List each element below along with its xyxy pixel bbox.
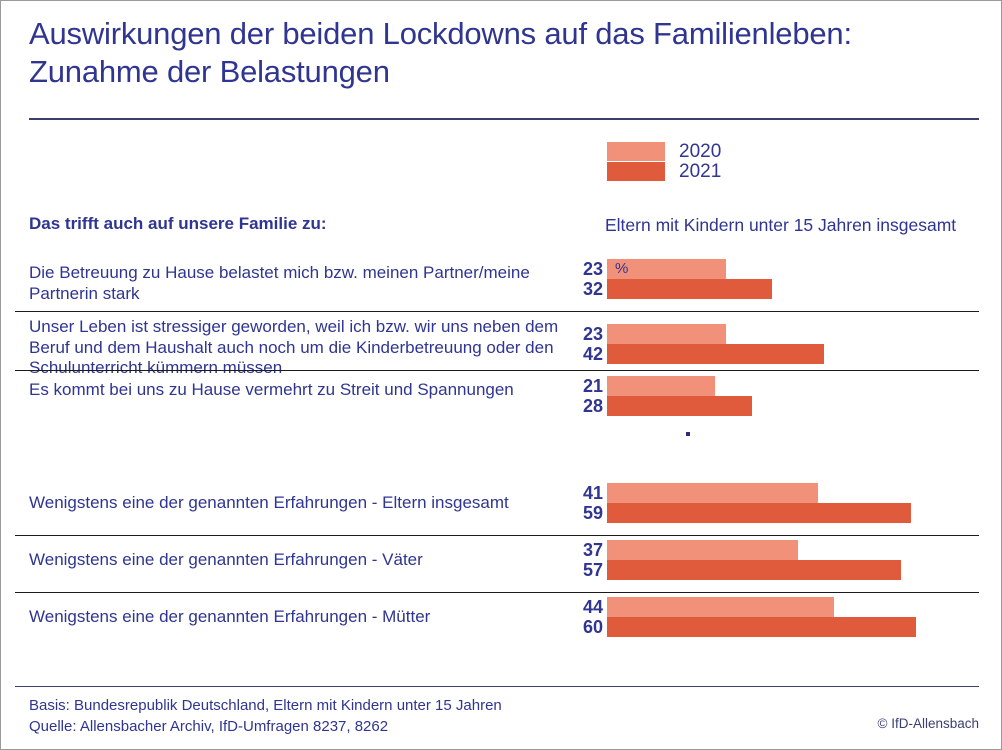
bar-2020 [607,540,798,560]
bar-value-2021: 28 [547,396,603,416]
bar-2021 [607,344,824,364]
bar-2020 [607,597,834,617]
row-label: Es kommt bei uns zu Hause vermehrt zu St… [29,380,569,401]
bar-value-2021: 57 [547,560,603,580]
column-header: Eltern mit Kindern unter 15 Jahren insge… [605,214,985,236]
footer-text: Basis: Bundesrepublik Deutschland, Elter… [29,695,502,737]
title-divider [29,118,979,120]
legend-item-2020: 2020 [607,141,721,161]
bar-2020 [607,376,715,396]
bar-2020 [607,483,818,503]
section-heading: Das trifft auch auf unsere Familie zu: [29,214,327,234]
row-separator [15,535,979,536]
row-separator [15,311,979,312]
bar-value-2020: 41 [547,483,603,503]
legend-label-2021: 2021 [679,162,721,181]
row-separator [15,370,979,371]
row-label: Wenigstens eine der genannten Erfahrunge… [29,493,589,514]
bar-value-2020: 23 [547,259,603,279]
chart-frame: Auswirkungen der beiden Lockdowns auf da… [0,0,1002,750]
legend-label-2020: 2020 [679,142,721,161]
bar-2021 [607,617,916,637]
footer-source: Quelle: Allensbacher Archiv, IfD-Umfrage… [29,716,502,737]
legend-swatch-2020 [607,142,665,161]
legend-swatch-2021 [607,162,665,181]
bar-value-2021: 59 [547,503,603,523]
percent-label: % [615,260,628,278]
decorative-dot [686,432,690,436]
bar-value-2020: 44 [547,597,603,617]
legend: 2020 2021 [607,141,721,181]
bar-2020 [607,324,726,344]
row-separator [15,592,979,593]
legend-item-2021: 2021 [607,161,721,181]
bar-value-2020: 37 [547,540,603,560]
bar-value-2020: 23 [547,324,603,344]
bar-2021 [607,396,752,416]
bar-2021 [607,560,901,580]
row-label: Wenigstens eine der genannten Erfahrunge… [29,607,589,628]
row-label: Wenigstens eine der genannten Erfahrunge… [29,550,589,571]
bar-value-2020: 21 [547,376,603,396]
bar-value-2021: 42 [547,344,603,364]
page-title: Auswirkungen der beiden Lockdowns auf da… [29,15,929,91]
bar-2021 [607,279,772,299]
copyright-label: © IfD-Allensbach [878,716,980,731]
row-label: Die Betreuung zu Hause belastet mich bzw… [29,263,569,304]
bar-value-2021: 60 [547,617,603,637]
bar-value-2021: 32 [547,279,603,299]
bar-2021 [607,503,911,523]
footer-basis: Basis: Bundesrepublik Deutschland, Elter… [29,695,502,716]
footer-divider [15,686,979,687]
